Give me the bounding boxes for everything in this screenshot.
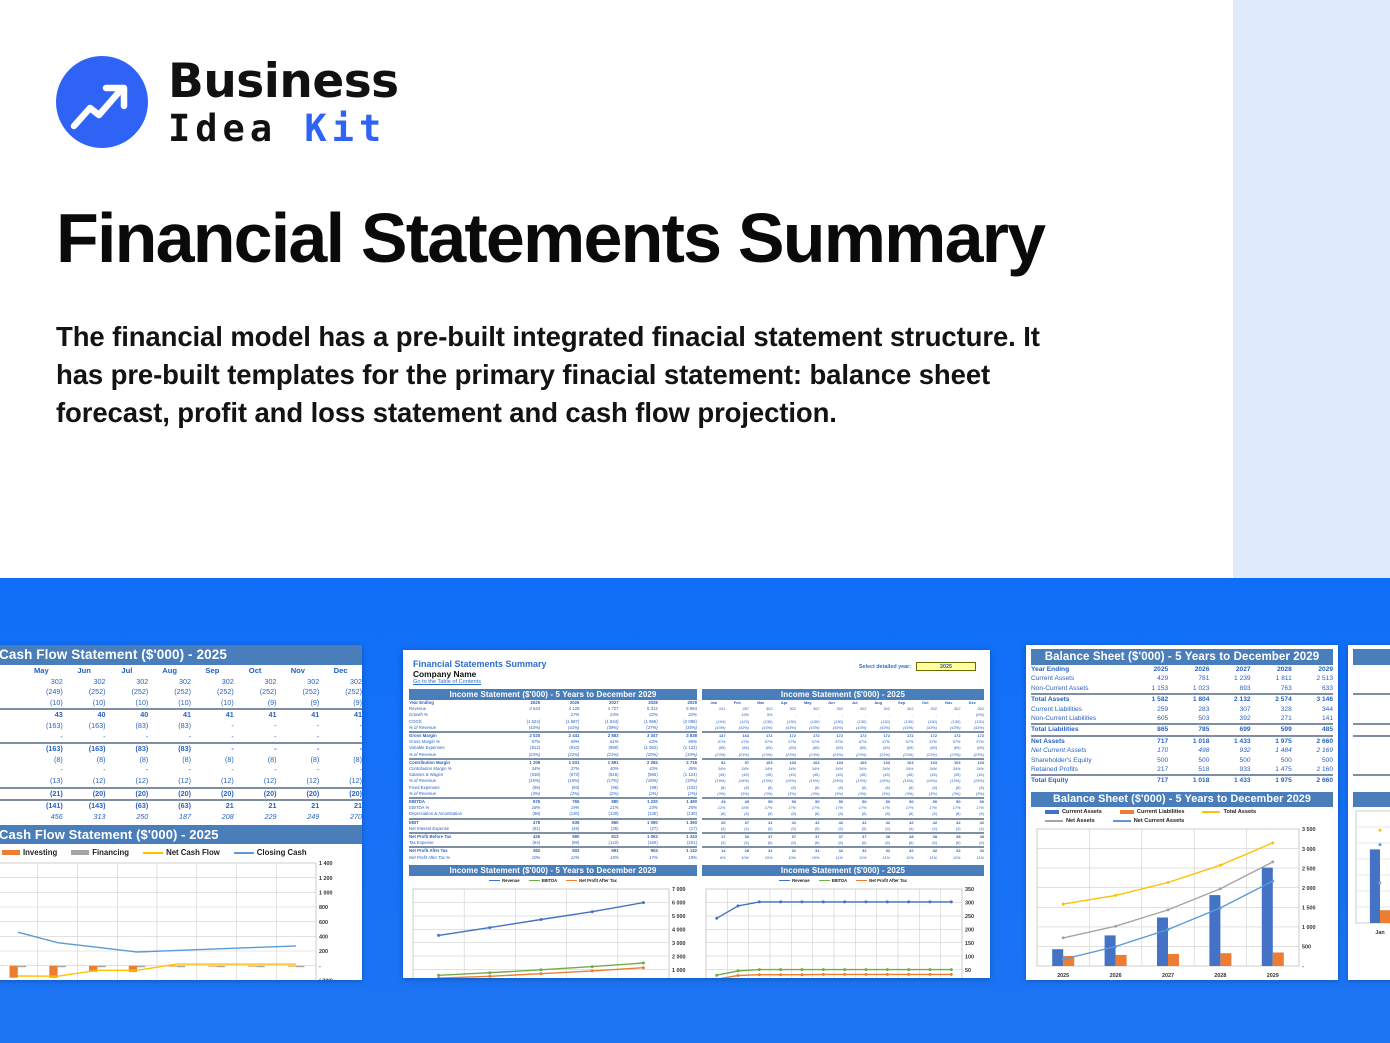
chart-marker [1219, 906, 1222, 909]
table-cell: 170 [1127, 746, 1168, 755]
table-row: Total Equity7171 0181 4331 9752 660 [1031, 775, 1333, 785]
table-row: (8)(8)(8)(8)(8)(8)(8)(8)(8)(8)(8)(8) [702, 811, 984, 818]
table-cell: 17 [702, 833, 726, 840]
table-cell: 50 [961, 798, 985, 805]
table-cell [0, 698, 20, 710]
table-cell: (21%) [579, 752, 618, 759]
table-cell: Total Equity [1031, 775, 1127, 785]
chart-bar [1220, 953, 1231, 966]
table-cell: (5) [820, 826, 844, 833]
table-cell: 187 [148, 812, 191, 823]
table-cell: (3%) [820, 791, 844, 798]
table-cell: 103 [843, 759, 867, 766]
table-cell: 21 [191, 800, 234, 812]
chart-marker [642, 901, 645, 904]
table-cell: (160) [619, 840, 658, 847]
table-cell: (20) [319, 788, 362, 801]
table-cell: (8) [319, 755, 362, 766]
cashflow-table: May Jun Jul Aug Sep Oct Nov Dec 30230230… [0, 666, 362, 822]
logo-word-idea: Idea [168, 107, 304, 150]
table-cell: 217 [1127, 765, 1168, 775]
table-header-row: May Jun Jul Aug Sep Oct Nov Dec [0, 666, 362, 677]
table-cell: (43%) [961, 725, 985, 732]
table-cell: 2 574 [1251, 694, 1292, 704]
table-cell: (130) [658, 811, 697, 818]
chart-marker [822, 973, 825, 976]
table-cell: (37%) [619, 725, 658, 732]
row-label: Year Ending [1031, 665, 1127, 674]
legend-swatch [856, 880, 867, 882]
chart-marker [1114, 894, 1117, 897]
partial-table: Jan 1 1741241 297936927865121 0815001251… [1353, 665, 1390, 786]
chart-marker [591, 969, 594, 972]
y-tick-label: 2 000 [1302, 886, 1316, 892]
table-cell: 500 [1251, 756, 1292, 765]
partial-table-body: 1 1741241 297936927865121 08150012512 [1353, 674, 1390, 785]
table-cell: 19% [658, 855, 697, 861]
table-cell: 103 [961, 759, 985, 766]
table-cell: 42 [890, 819, 914, 826]
legend-item: Net Profit After Tax [856, 878, 907, 883]
table-cell: 2 132 [1209, 694, 1250, 704]
table-cell: 172 [749, 732, 773, 739]
legend-item: Current Assets [1045, 809, 1102, 815]
legend-item: Financing [71, 848, 129, 857]
table-cell: (19%) [658, 752, 697, 759]
table-row: (163)(163)(83)(83)---- [0, 743, 362, 755]
table-row: 173337373737373838383838 [702, 833, 984, 840]
chart-marker [843, 973, 846, 976]
chart-bar [256, 966, 264, 968]
table-cell: 500 [1168, 756, 1209, 765]
table-cell: 904 [619, 847, 658, 854]
table-row: Current Assets4297811 2391 8112 513 [1031, 674, 1333, 683]
partial-chart: Jan [1353, 807, 1390, 937]
y-tick-label: 3 000 [672, 941, 686, 947]
table-cell: - [319, 721, 362, 732]
table-cell: 32 [914, 847, 938, 854]
table-cell: 392 [1209, 714, 1250, 724]
table-cell: 478 [501, 819, 540, 826]
x-tick-label: 2029 [1267, 973, 1279, 979]
table-cell: (3%) [914, 791, 938, 798]
table-cell: (3%) [890, 791, 914, 798]
year-selector-input[interactable]: 2025 [916, 662, 976, 671]
chart-bar [137, 966, 145, 968]
table-cell: 2 441 [540, 732, 579, 739]
chart-plot: 7 0006 0005 0004 0003 0002 0001 000-2025… [409, 885, 697, 978]
legend-item: Closing Cash [234, 848, 307, 857]
table-cell: (12) [106, 776, 149, 788]
table-cell: Non-Current Liabilities [1031, 714, 1127, 724]
table-cell: Net Interest Expense [409, 826, 501, 833]
summary-screenshot-panel[interactable]: Financial Statements Summary Company Nam… [403, 650, 990, 978]
toc-link[interactable]: Go to the Table of Contents [413, 679, 990, 685]
chart-marker [822, 900, 825, 903]
table-cell: 1 975 [1251, 775, 1292, 785]
table-cell: 11% [937, 855, 961, 861]
table-cell: (252) [319, 687, 362, 698]
col-header: May [20, 666, 63, 677]
legend-row: Current AssetsCurrent LiabilitiesTotal A… [1031, 807, 1333, 816]
year-selector-label: Select detailed year: [859, 664, 911, 670]
chart-bar [18, 966, 26, 968]
table-row: 302302302302302302302302 [0, 677, 362, 688]
table-cell: (6) [796, 840, 820, 847]
table-cell: 500 [1209, 756, 1250, 765]
x-tick-label: Jan [1375, 930, 1384, 936]
table-cell: (6) [867, 840, 891, 847]
chart-marker [1114, 945, 1117, 948]
table-cell: (12) [319, 776, 362, 788]
table-cell: 2 160 [1292, 765, 1333, 775]
y-tick-label: 600 [319, 920, 328, 926]
chart-marker [737, 904, 740, 907]
table-cell: (5) [773, 826, 797, 833]
table-cell: 172 [890, 732, 914, 739]
table-cell: - [234, 721, 277, 732]
table-cell: (9) [319, 698, 362, 710]
table-cell: 692 [1353, 714, 1390, 724]
chart-marker [1062, 936, 1065, 939]
chart-marker [1219, 864, 1222, 867]
table-cell: (201) [658, 840, 697, 847]
y-tick-label: 250 [965, 914, 974, 920]
balancesheet-table-body: Current Assets4297811 2391 8112 513Non-C… [1031, 674, 1333, 785]
table-cell: (23%) [749, 752, 773, 759]
table-cell: Net Current Assets [1031, 746, 1127, 755]
table-cell: 37 [749, 833, 773, 840]
table-cell: (6) [843, 840, 867, 847]
table-cell: 633 [1292, 684, 1333, 694]
table-cell: (20) [148, 788, 191, 801]
y-tick-label: 6 000 [672, 900, 686, 906]
table-row: (13)(12)(12)(12)(12)(12)(12)(12) [0, 776, 362, 788]
table-cell: 250 [106, 812, 149, 823]
table-cell: (8) [890, 811, 914, 818]
table-cell: 1 239 [1209, 674, 1250, 683]
monthly-is-title: Income Statement ($'000) - 2025 [702, 689, 984, 700]
table-cell: 42 [796, 819, 820, 826]
table-cell: (130) [540, 811, 579, 818]
table-cell: 97 [726, 759, 750, 766]
table-cell: 1 475 [1251, 765, 1292, 775]
partial-table-title [1353, 649, 1390, 665]
table-cell: (89) [540, 840, 579, 847]
table-cell: - [106, 765, 149, 776]
table-cell: 1 811 [1251, 674, 1292, 683]
x-tick-label: 2026 [1110, 973, 1122, 979]
chart-marker [929, 900, 932, 903]
table-cell: - [191, 721, 234, 732]
table-cell: 605 [1127, 714, 1168, 724]
table-cell [0, 788, 20, 801]
table-cell: 344 [1292, 705, 1333, 714]
table-cell: 271 [1251, 714, 1292, 724]
table-cell: 302 [191, 677, 234, 688]
legend-row: Net AssetsNet Current Assets [1031, 816, 1333, 825]
table-cell [0, 677, 20, 688]
table-cell: (10) [191, 698, 234, 710]
table-cell: (23%) [914, 752, 938, 759]
table-cell: (10) [148, 698, 191, 710]
table-cell: 1 360 [658, 819, 697, 826]
table-cell: (3%) [937, 791, 961, 798]
table-cell: (3%) [796, 791, 820, 798]
table-cell: 1 804 [1168, 694, 1209, 704]
table-cell: (2%) [540, 791, 579, 798]
table-cell: (5) [843, 826, 867, 833]
table-cell: (8) [148, 755, 191, 766]
table-cell: 1 153 [1127, 684, 1168, 694]
table-cell: 2 716 [658, 759, 697, 766]
table-cell: (12) [191, 776, 234, 788]
chart-marker [929, 973, 932, 976]
table-cell: (43%) [820, 725, 844, 732]
y-tick-label: 150 [965, 941, 974, 947]
table-cell: 103 [867, 759, 891, 766]
y-tick-label: 2 500 [1302, 866, 1316, 872]
legend-label: Revenue [502, 878, 519, 883]
chart-bar [1116, 955, 1127, 966]
legend-item: Net Profit After Tax [566, 878, 617, 883]
legend-swatch [1045, 820, 1063, 822]
table-row: % of Revenue(23%)(22%)(21%)(20%)(19%) [409, 752, 697, 759]
table-row: 456313250187208229249270 [0, 812, 362, 823]
table-cell: 42 [937, 819, 961, 826]
legend-swatch [71, 850, 89, 855]
legend-swatch [1202, 811, 1220, 813]
table-cell: 328 [1251, 705, 1292, 714]
table-cell: (23%) [867, 752, 891, 759]
table-header-row: Jan [1353, 665, 1390, 674]
partial-chart-title [1353, 792, 1390, 807]
table-cell: 11% [914, 855, 938, 861]
table-cell: 1 081 [1353, 746, 1390, 755]
annual-income-body: Revenue3 5444 1284 7275 3125 984Growth %… [409, 706, 697, 861]
table-cell: Retained Profits [1031, 765, 1127, 775]
table-cell: - [191, 765, 234, 776]
legend-swatch [819, 880, 830, 882]
table-cell: 1 891 [579, 759, 618, 766]
chart-marker [929, 968, 932, 971]
table-cell: 932 [1209, 746, 1250, 755]
table-cell: (4) [961, 826, 985, 833]
chart-marker [758, 973, 761, 976]
chart-bar [1273, 952, 1284, 966]
table-cell: 865 [1127, 724, 1168, 735]
table-cell: EBIT [409, 819, 501, 826]
table-cell: (63) [106, 800, 149, 812]
table-row: -------- [0, 732, 362, 744]
table-cell: 21 [319, 800, 362, 812]
table-row: (8)(8)(8)(8)(8)(8)(8)(8) [0, 755, 362, 766]
table-row: Current Liabilities259283307328344 [1031, 705, 1333, 714]
brand-logo: Business Idea Kit [56, 56, 399, 148]
table-cell: (6) [937, 840, 961, 847]
table-cell: 41 [234, 709, 277, 721]
table-cell: 10% [501, 855, 540, 861]
table-cell: 2 660 [1292, 736, 1333, 746]
table-cell: (45) [540, 826, 579, 833]
table-cell: 283 [1168, 705, 1209, 714]
partial-screenshot-panel[interactable]: Jan 1 1741241 297936927865121 0815001251… [1348, 645, 1390, 980]
table-cell: % of Revenue [409, 791, 501, 798]
legend-item: Net Cash Flow [143, 848, 220, 857]
table-cell: (4) [914, 826, 938, 833]
table-cell: 33 [726, 833, 750, 840]
table-cell: 635 [540, 819, 579, 826]
table-cell: 1 063 [619, 833, 658, 840]
table-cell: 29 [702, 798, 726, 805]
table-cell: 32 [820, 847, 844, 854]
table-cell: (43%) [867, 725, 891, 732]
table-cell: 512 [1353, 775, 1390, 785]
table-cell [0, 800, 20, 812]
table-cell: (51) [501, 826, 540, 833]
chart-marker [843, 900, 846, 903]
chart-marker [907, 968, 910, 971]
table-cell: 41 [148, 709, 191, 721]
table-row: 1 297 [1353, 694, 1390, 704]
table-cell: 10% [726, 855, 750, 861]
cashflow-chart: 1 4001 2001 000800600400200-( 200)( 400)… [0, 859, 362, 980]
y-tick-label: ( 200) [319, 979, 333, 980]
table-cell: 38 [890, 833, 914, 840]
table-cell: (10) [63, 698, 106, 710]
col-header: 2028 [1251, 665, 1292, 674]
table-cell: 172 [820, 732, 844, 739]
y-tick-label: 100 [965, 954, 974, 960]
table-cell: 763 [1251, 684, 1292, 694]
chart-marker [822, 968, 825, 971]
table-cell: 307 [1209, 705, 1250, 714]
table-cell: 10% [749, 855, 773, 861]
table-row: Gross Margin2 0202 4412 8833 3473 838 [409, 732, 697, 739]
table-cell: 249 [277, 812, 320, 823]
col-header: Jul [106, 666, 149, 677]
legend-item: Net Current Assets [1113, 818, 1184, 824]
chart-marker [1379, 843, 1382, 846]
table-cell: 1 975 [1251, 736, 1292, 746]
table-cell: 1 090 [619, 819, 658, 826]
chart-svg: 35030025020015010050-JanFebMarAprMayJunJ… [702, 885, 984, 978]
chart-marker [715, 917, 718, 920]
table-cell: 1 220 [619, 798, 658, 805]
chart-marker [758, 968, 761, 971]
balancesheet-chart-legend: Current AssetsCurrent LiabilitiesTotal A… [1031, 807, 1333, 825]
cashflow-chart-title: Cash Flow Statement ($'000) - 2025 [0, 825, 362, 844]
table-cell: 14 [702, 847, 726, 854]
table-cell: 893 [1209, 684, 1250, 694]
table-cell: 1 018 [1168, 736, 1209, 746]
table-cell: (5) [796, 826, 820, 833]
table-cell: (252) [148, 687, 191, 698]
chart-bar [296, 966, 304, 968]
table-cell: 45 [726, 798, 750, 805]
y-tick-label: 1 200 [319, 876, 333, 882]
table-cell: 426 [501, 833, 540, 840]
table-cell: - [319, 743, 362, 755]
chart-marker [886, 973, 889, 976]
table-row: Depreciation & Amortisation(98)(130)(130… [409, 811, 697, 818]
balancesheet-screenshot-panel[interactable]: Balance Sheet ($'000) - 5 Years to Decem… [1026, 645, 1338, 980]
table-header-row: Year Ending 2025 2026 2027 2028 2029 [1031, 665, 1333, 674]
table-cell: (6) [749, 840, 773, 847]
table-cell: (6) [914, 840, 938, 847]
table-cell: 37 [796, 833, 820, 840]
table-row: (23%)(23%)(23%)(23%)(23%)(23%)(23%)(23%)… [702, 752, 984, 759]
chart-marker [779, 968, 782, 971]
table-row: 142831313132323232323232 [702, 847, 984, 854]
table-cell: 1 531 [540, 759, 579, 766]
table-cell: 6% [702, 855, 726, 861]
monthly-income-statement-block: Income Statement ($'000) - 2025 JanFebMa… [702, 689, 984, 861]
legend-swatch [2, 850, 20, 855]
balancesheet-chart-title: Balance Sheet ($'000) - 5 Years to Decem… [1031, 792, 1333, 807]
table-cell: 21 [234, 800, 277, 812]
table-cell: (249) [20, 687, 63, 698]
balancesheet-chart: 3 5003 0002 5002 0001 5001 000500-202520… [1031, 825, 1333, 980]
table-cell: (23%) [843, 752, 867, 759]
table-cell: 11% [867, 855, 891, 861]
table-cell: 717 [1127, 736, 1168, 746]
col-header: Jun [63, 666, 106, 677]
table-cell: (12) [148, 776, 191, 788]
table-cell: 141 [1292, 714, 1333, 724]
chart-marker [1114, 925, 1117, 928]
table-row: 1 174 [1353, 674, 1390, 683]
legend-swatch [1113, 820, 1131, 822]
table-cell: 172 [937, 732, 961, 739]
x-tick-label: 2028 [1214, 973, 1226, 979]
y-tick-label: 400 [319, 935, 328, 941]
table-cell: (8) [106, 755, 149, 766]
table-cell: (8) [820, 811, 844, 818]
legend-item: Current Liabilities [1120, 809, 1185, 815]
table-cell: (3%) [843, 791, 867, 798]
table-cell: 765 [540, 798, 579, 805]
table-cell: (3) [702, 840, 726, 847]
table-row: Tax Expense(64)(89)(122)(160)(201) [409, 840, 697, 847]
table-cell: (23%) [726, 752, 750, 759]
page-description: The financial model has a pre-built inte… [56, 318, 1086, 432]
table-row: Net Profit After Tax %10%12%15%17%19% [409, 855, 697, 861]
table-cell: Current Assets [1031, 674, 1127, 683]
table-cell: 503 [1168, 714, 1209, 724]
table-cell: 1 142 [658, 847, 697, 854]
table-cell: (3%) [702, 791, 726, 798]
table-cell: (43%) [749, 725, 773, 732]
table-cell: (63) [148, 800, 191, 812]
table-cell [0, 687, 20, 698]
table-row: 93 [1353, 705, 1390, 714]
col-header: Nov [277, 666, 320, 677]
table-cell: (98) [501, 811, 540, 818]
table-cell: (8) [773, 811, 797, 818]
table-row: 12 [1353, 765, 1390, 775]
chart-bar [97, 966, 105, 968]
legend-swatch [234, 852, 254, 854]
table-cell: 32 [890, 847, 914, 854]
table-row: (163)(163)(83)(83)---- [0, 721, 362, 732]
table-row: 500 [1353, 756, 1390, 765]
table-cell: Shareholder's Equity [1031, 756, 1127, 765]
cashflow-screenshot-panel[interactable]: Cash Flow Statement ($'000) - 2025 May J… [0, 645, 362, 980]
table-cell: 1 484 [1251, 746, 1292, 755]
table-cell: Net Profit Before Tax [409, 833, 501, 840]
table-cell: 11% [820, 855, 844, 861]
